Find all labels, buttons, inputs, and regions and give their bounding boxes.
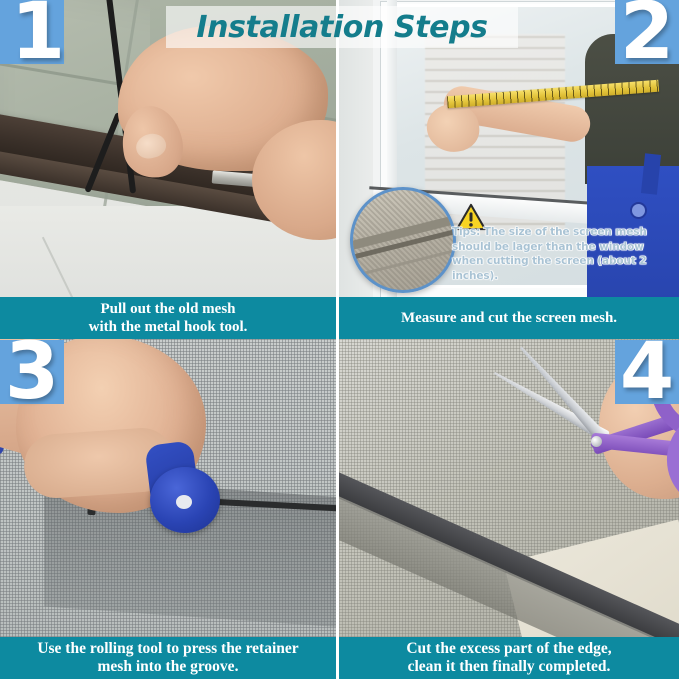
step-4-caption-bar: Cut the excess part of the edge, clean i…: [339, 637, 679, 679]
step-2-caption-bar: Measure and cut the screen mesh.: [339, 297, 679, 339]
step-1-caption-text: Pull out the old mesh with the metal hoo…: [89, 300, 248, 336]
step-1-caption-bar: Pull out the old mesh with the metal hoo…: [0, 297, 336, 339]
scissors-pivot-screw: [591, 436, 602, 447]
step-number-badge-4: 4: [615, 340, 679, 404]
step-3-caption-text: Use the rolling tool to press the retain…: [37, 640, 298, 676]
installation-steps-infographic: Tips: The size of the screen mesh should…: [0, 0, 679, 679]
steps-grid: Tips: The size of the screen mesh should…: [0, 0, 679, 679]
step-4-caption-text: Cut the excess part of the edge, clean i…: [406, 640, 611, 676]
mesh-closeup-inset: [350, 187, 456, 293]
tips-text: Tips: The size of the screen mesh should…: [452, 225, 674, 283]
roller-tool-hub: [176, 495, 192, 509]
step-3-caption-bar: Use the rolling tool to press the retain…: [0, 637, 336, 679]
step-2-caption-text: Measure and cut the screen mesh.: [401, 309, 617, 327]
step-number-badge-3: 3: [0, 340, 64, 404]
page-title: Installation Steps: [196, 10, 487, 45]
overalls-button: [630, 202, 647, 219]
step-number-badge-1: 1: [0, 0, 64, 64]
step-number-badge-2: 2: [615, 0, 679, 64]
title-banner: Installation Steps: [166, 6, 518, 48]
